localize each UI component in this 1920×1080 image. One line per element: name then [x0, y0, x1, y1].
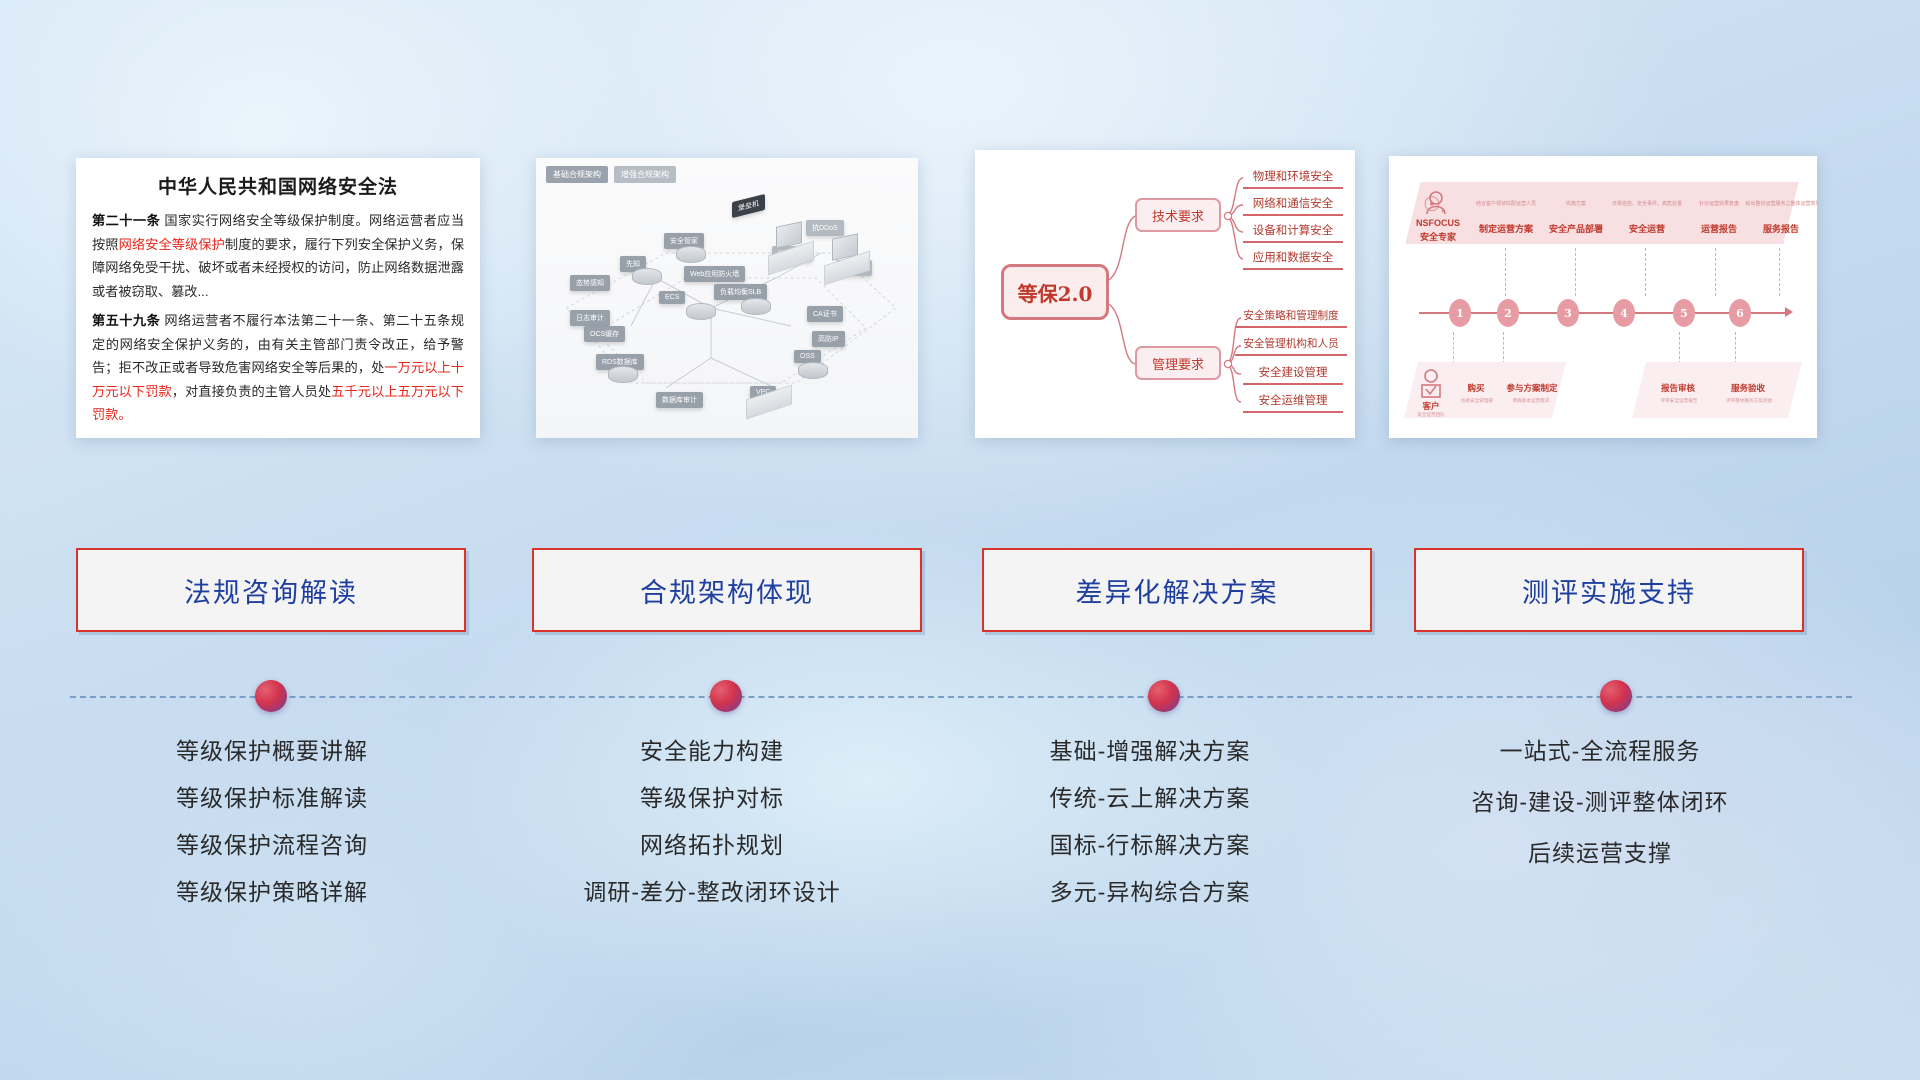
- list-item: 等级保护流程咨询: [62, 834, 482, 857]
- timeline-dash-lower-2: [1503, 332, 1504, 364]
- arch-node-ca-cert: CA证书: [807, 306, 843, 322]
- section-items-column-3: 基础-增强解决方案 传统-云上解决方案 国标-行标解决方案 多元-异构综合方案: [940, 740, 1360, 928]
- timeline-dash-2: [1575, 248, 1576, 296]
- section-title-label-3: 差异化解决方案: [1076, 571, 1279, 610]
- section-title-label-2: 合规架构体现: [640, 571, 814, 610]
- timeline-step-3: 3: [1557, 299, 1579, 327]
- list-item: 国标-行标解决方案: [940, 834, 1360, 857]
- customer-task-1-title: 购买: [1455, 382, 1497, 394]
- review-task-1-title: 报告审核: [1647, 382, 1709, 394]
- review-task-2-sub: 评审整体服务方案验收: [1709, 398, 1789, 404]
- section-title-box-3[interactable]: 差异化解决方案: [982, 548, 1372, 632]
- timeline-dash-3: [1645, 248, 1646, 296]
- law-article-21-label: 第二十一条: [92, 213, 160, 228]
- mindmap-branch-management: 管理要求: [1135, 346, 1221, 380]
- review-task-2-title: 服务验收: [1717, 382, 1779, 394]
- law-card-title: 中华人民共和国网络安全法: [92, 172, 464, 199]
- arch-node-db-audit: 数据库审计: [656, 392, 703, 408]
- list-item: 咨询-建设-测评整体闭环: [1390, 791, 1810, 814]
- arch-node-log-audit: 日志审计: [570, 310, 610, 326]
- phase-2-title: 安全产品部署: [1539, 222, 1613, 235]
- list-item: 等级保护对标: [502, 787, 922, 810]
- expert-label-line1: NSFOCUS: [1407, 218, 1469, 228]
- customer-avatar-icon: [1417, 368, 1445, 398]
- arch-node-waf: Web应用防火墙: [684, 266, 745, 282]
- review-task-1-sub: 评审安全运营报告: [1641, 398, 1717, 404]
- arch-shape-cylinder-6: [608, 366, 638, 383]
- timeline-dash-lower-1: [1453, 332, 1454, 364]
- phase-5-sub: 给出整份运营服务之整体运营效果: [1737, 200, 1817, 207]
- arch-shape-cylinder-5: [798, 362, 828, 379]
- phase-5-title: 服务报告: [1745, 222, 1817, 235]
- list-item: 网络拓扑规划: [502, 834, 922, 857]
- list-item: 后续运营支撑: [1390, 842, 1810, 865]
- law-article-59-text-b: ，对直接负责的主管人员处: [172, 384, 331, 399]
- phase-1-sub: 结合客户现状匹配运营人员: [1467, 200, 1545, 207]
- list-item: 传统-云上解决方案: [940, 787, 1360, 810]
- mindmap-leaf-org-personnel: 安全管理机构和人员: [1235, 336, 1347, 356]
- mindmap-leaf-policy-system: 安全策略和管理制度: [1235, 308, 1347, 328]
- section-title-label-4: 测评实施支持: [1522, 571, 1696, 610]
- timeline-axis-arrow-icon: [1785, 307, 1793, 317]
- timeline-dash-1: [1505, 248, 1506, 296]
- mindmap-leaf-app-data: 应用和数据安全: [1243, 249, 1343, 270]
- arch-node-antiddos: 抗DDoS: [806, 220, 844, 236]
- arch-node-situation-awareness: 态势感知: [570, 275, 610, 291]
- law-article-21-highlight: 网络安全等级保护: [119, 237, 225, 252]
- service-timeline-card: ☉ NSFOCUS 安全专家 结合客户现状匹配运营人员 制定运营方案 实施方案 …: [1389, 156, 1817, 438]
- arch-node-highdefense-ip: 高防IP: [812, 331, 845, 347]
- list-item: 等级保护概要讲解: [62, 740, 482, 763]
- phase-3-title: 安全运营: [1611, 222, 1683, 235]
- list-item: 等级保护标准解读: [62, 787, 482, 810]
- section-marker-dot-1: [255, 680, 287, 712]
- mindmap-leaf-physical-env: 物理和环境安全: [1243, 168, 1343, 189]
- list-item: 安全能力构建: [502, 740, 922, 763]
- section-title-box-2[interactable]: 合规架构体现: [532, 548, 922, 632]
- architecture-card: 基础合规架构 增强合规架构 堡垒机 安全管家 先知 态势感知 日志审计 抗DDo…: [536, 158, 918, 438]
- customer-task-2-sub: 明确基本运营需求: [1495, 398, 1567, 404]
- timeline-step-1: 1: [1449, 299, 1471, 327]
- section-items-column-2: 安全能力构建 等级保护对标 网络拓扑规划 调研-差分-整改闭环设计: [502, 740, 922, 928]
- mindmap-leaf-construction-mgmt: 安全建设管理: [1243, 364, 1343, 385]
- law-card: 中华人民共和国网络安全法 第二十一条 国家实行网络安全等级保护制度。网络运营者应…: [76, 158, 480, 438]
- arch-shape-cylinder-4: [741, 298, 771, 315]
- section-title-label-1: 法规咨询解读: [184, 571, 358, 610]
- expert-avatar-icon: [1419, 190, 1453, 216]
- section-title-box-1[interactable]: 法规咨询解读: [76, 548, 466, 632]
- expert-label-line2: 安全专家: [1407, 230, 1469, 243]
- arch-node-ecs: ECS: [659, 291, 685, 304]
- list-item: 等级保护策略详解: [62, 881, 482, 904]
- arch-shape-cylinder-2: [632, 268, 662, 285]
- mindmap-root-node: 等保2.0: [1001, 264, 1109, 320]
- customer-label-line2: 安全运营团队: [1397, 412, 1465, 418]
- arch-shape-cylinder-3: [686, 303, 716, 320]
- timeline-step-5: 5: [1673, 299, 1695, 327]
- law-article-59: 第五十九条 网络运营者不履行本法第二十一条、第二十五条规定的网络安全保护义务的，…: [92, 309, 464, 427]
- timeline-dash-5: [1779, 248, 1780, 296]
- timeline-step-4: 4: [1613, 299, 1635, 327]
- mindmap-branch-technical: 技术要求: [1135, 198, 1221, 232]
- timeline-dash-lower-4: [1735, 332, 1736, 364]
- law-article-21: 第二十一条 国家实行网络安全等级保护制度。网络运营者应当按照网络安全等级保护制度…: [92, 209, 464, 303]
- section-connector-axis: [70, 696, 1852, 698]
- mindmap-leaf-network-comm: 网络和通信安全: [1243, 195, 1343, 216]
- arch-node-ocs-cache: OCS缓存: [584, 326, 625, 342]
- mindmap-card: 等保2.0 技术要求 管理要求 物理和环境安全 网络和通信安全 设备和计算安全 …: [975, 150, 1355, 438]
- list-item: 一站式-全流程服务: [1390, 740, 1810, 763]
- arch-node-oss: OSS: [794, 350, 821, 363]
- section-items-column-4: 一站式-全流程服务 咨询-建设-测评整体闭环 后续运营支撑: [1390, 740, 1810, 893]
- timeline-step-2: 2: [1497, 299, 1519, 327]
- law-article-59-label: 第五十九条: [92, 313, 160, 328]
- section-title-box-4[interactable]: 测评实施支持: [1414, 548, 1804, 632]
- customer-label-line1: 客户: [1407, 400, 1455, 412]
- timeline-dash-lower-3: [1679, 332, 1680, 364]
- arch-shape-cylinder-1: [676, 246, 706, 263]
- list-item: 调研-差分-整改闭环设计: [502, 881, 922, 904]
- mindmap-leaf-ops-mgmt: 安全运维管理: [1243, 392, 1343, 413]
- list-item: 基础-增强解决方案: [940, 740, 1360, 763]
- section-marker-dot-2: [710, 680, 742, 712]
- mindmap-leaf-device-compute: 设备和计算安全: [1243, 222, 1343, 243]
- timeline-step-6: 6: [1729, 299, 1751, 327]
- section-items-column-1: 等级保护概要讲解 等级保护标准解读 等级保护流程咨询 等级保护策略详解: [62, 740, 482, 928]
- section-marker-dot-3: [1148, 680, 1180, 712]
- phase-1-title: 制定运营方案: [1467, 222, 1545, 235]
- customer-task-2-title: 参与方案制定: [1497, 382, 1567, 394]
- timeline-dash-4: [1715, 248, 1716, 296]
- section-marker-dot-4: [1600, 680, 1632, 712]
- list-item: 多元-异构综合方案: [940, 881, 1360, 904]
